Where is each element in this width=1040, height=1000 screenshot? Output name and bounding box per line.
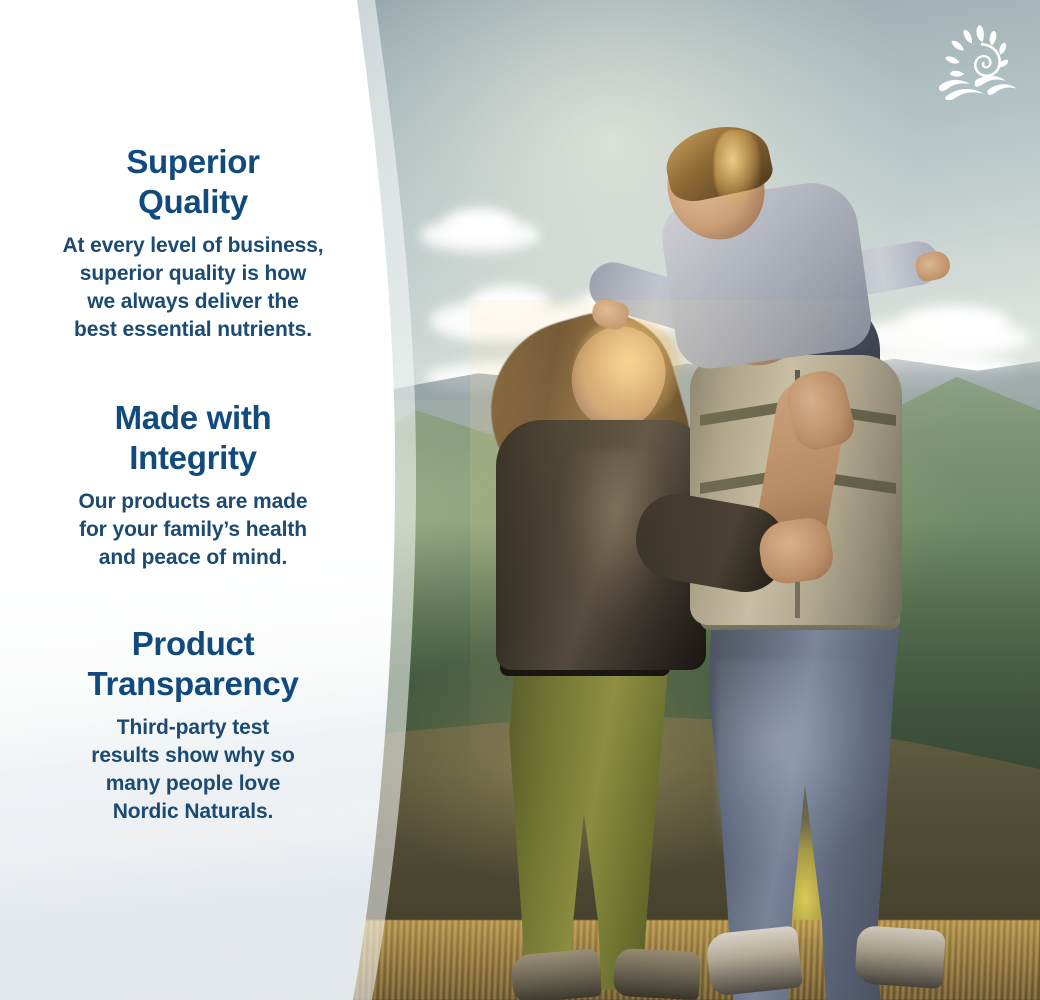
man-jeans-highlight (716, 660, 896, 870)
sun-wave-logo-icon (932, 20, 1022, 100)
value-title: Product Transparency (28, 624, 358, 704)
woman-shoe-left (510, 948, 602, 1000)
value-block-made-with-integrity: Made with Integrity Our products are mad… (28, 398, 358, 572)
value-block-superior-quality: Superior Quality At every level of busin… (28, 142, 358, 344)
child-hair-highlight (714, 130, 760, 204)
value-body: At every level of business, superior qua… (28, 232, 358, 344)
value-title: Made with Integrity (28, 398, 358, 478)
nordic-naturals-logo (932, 20, 1022, 100)
value-body: Our products are made for your family’s … (28, 488, 358, 572)
man-shoe-left (705, 925, 803, 996)
woman-shoe-right (613, 948, 701, 1000)
woman-pants (502, 650, 680, 990)
values-list: Superior Quality At every level of busin… (0, 0, 400, 1000)
woman-hair-highlight (572, 318, 682, 422)
value-title: Superior Quality (28, 142, 358, 222)
promo-banner: Superior Quality At every level of busin… (0, 0, 1040, 1000)
man-shoe-right (854, 925, 946, 989)
value-block-product-transparency: Product Transparency Third-party test re… (28, 624, 358, 826)
value-body: Third-party test results show why so man… (28, 714, 358, 826)
